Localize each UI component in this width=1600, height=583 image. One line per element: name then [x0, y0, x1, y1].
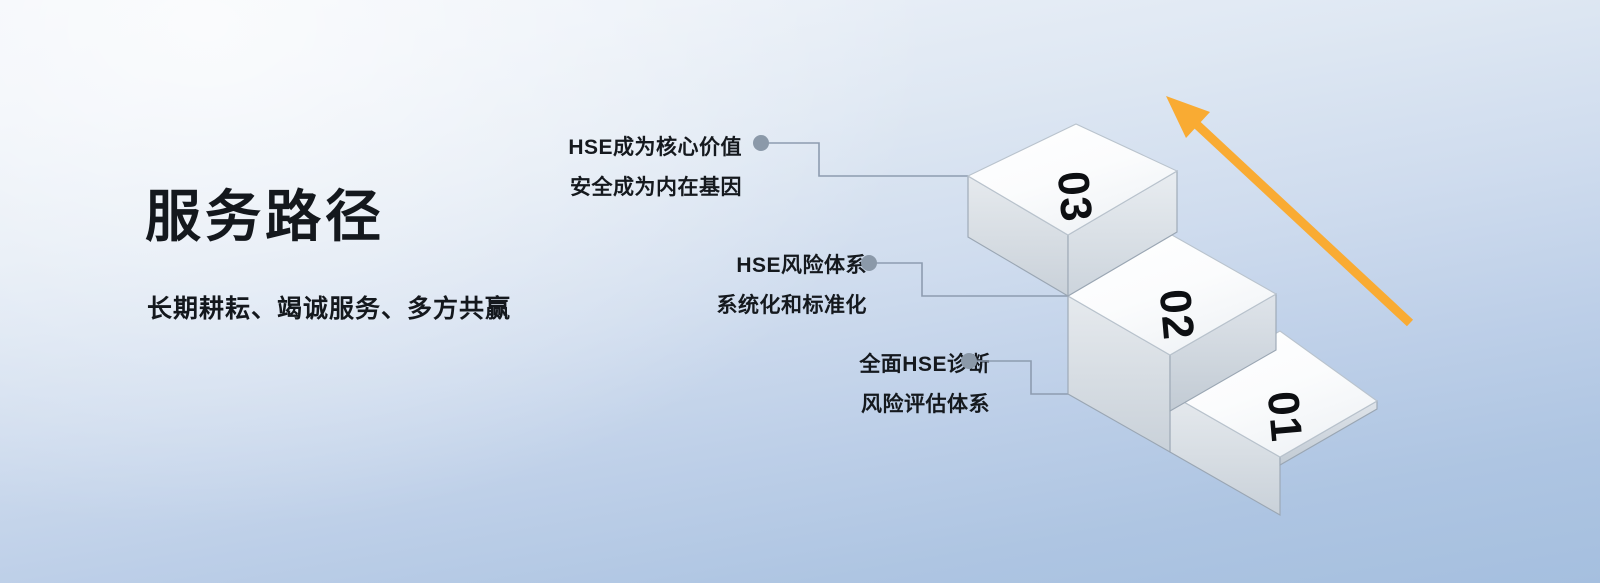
step-02-number: 02: [1150, 287, 1203, 342]
connector-dot-03: [753, 135, 769, 151]
connector-dots: [753, 135, 977, 369]
connector-dot-02: [861, 255, 877, 271]
step-01-number: 01: [1258, 389, 1311, 444]
step-03-number: 03: [1048, 169, 1101, 224]
connector-line-03: [768, 143, 968, 176]
slide-canvas: 服务路径 长期耕耘、竭诚服务、多方共赢 HSE成为核心价值 安全成为内在基因 H…: [0, 0, 1600, 583]
staircase-diagram: 01 02 03: [0, 0, 1600, 583]
connector-dot-01: [961, 353, 977, 369]
